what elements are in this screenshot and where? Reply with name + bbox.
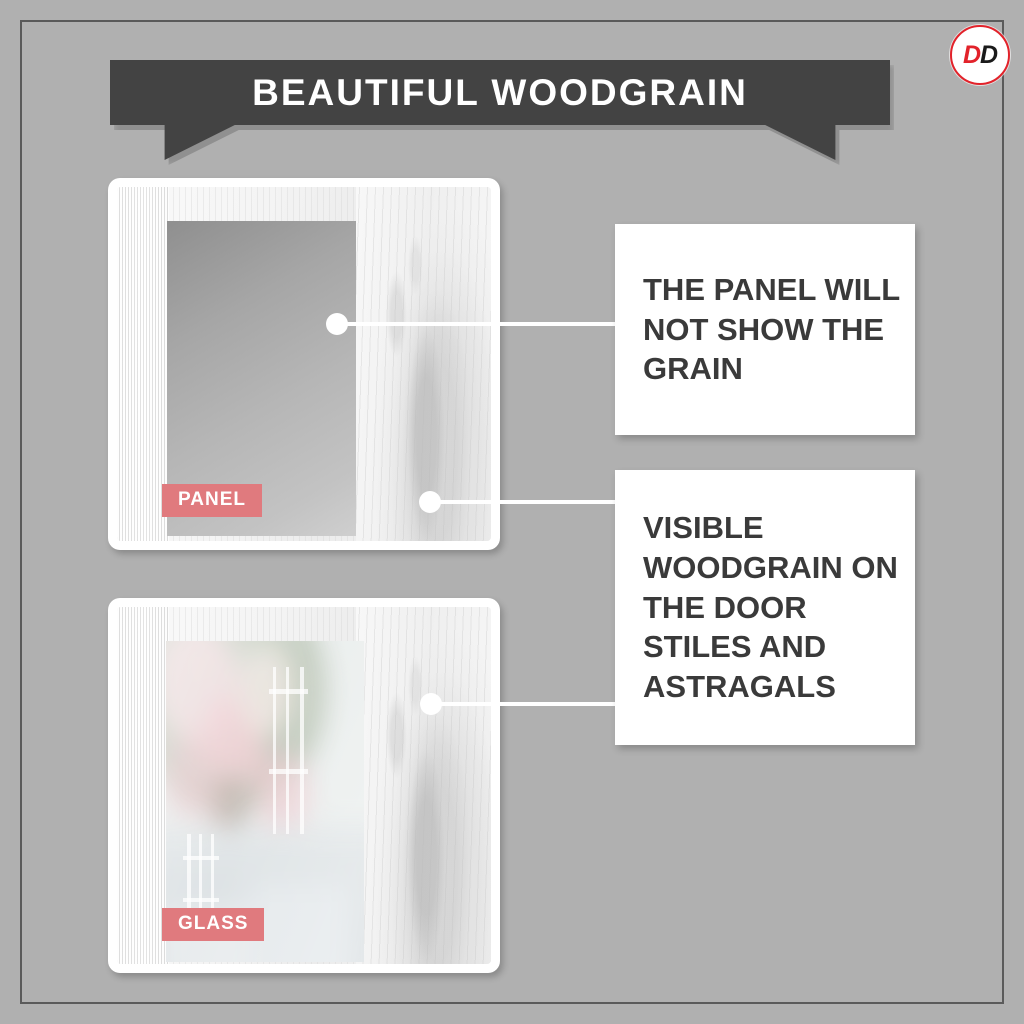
page-title: BEAUTIFUL WOODGRAIN [110, 60, 890, 125]
callout-visible-grain: VISIBLE WOODGRAIN ON THE DOOR STILES AND… [615, 470, 915, 745]
logo-letter-2: D [980, 43, 997, 68]
callout-panel-grain-text: THE PANEL WILL NOT SHOW THE GRAIN [615, 270, 915, 389]
title-banner: BEAUTIFUL WOODGRAIN [110, 60, 890, 160]
callout-panel-grain: THE PANEL WILL NOT SHOW THE GRAIN [615, 224, 915, 435]
connector-line-stile-top [430, 500, 617, 504]
connector-dot-stile-top [419, 491, 441, 513]
door-stile-woodgrain [356, 187, 491, 541]
door-stile-woodgrain-2 [356, 607, 491, 964]
connector-line-stile-bottom [431, 702, 617, 706]
connector-dot-panel [326, 313, 348, 335]
glass-tag-badge: GLASS [162, 908, 264, 941]
panel-tag-badge: PANEL [162, 484, 262, 517]
callout-visible-grain-text: VISIBLE WOODGRAIN ON THE DOOR STILES AND… [615, 508, 915, 706]
connector-dot-stile-bottom [420, 693, 442, 715]
connector-line-panel [337, 322, 617, 326]
dd-logo: DD [950, 25, 1010, 85]
logo-letter-1: D [963, 43, 980, 68]
infographic-stage: PANEL [0, 0, 1024, 1024]
